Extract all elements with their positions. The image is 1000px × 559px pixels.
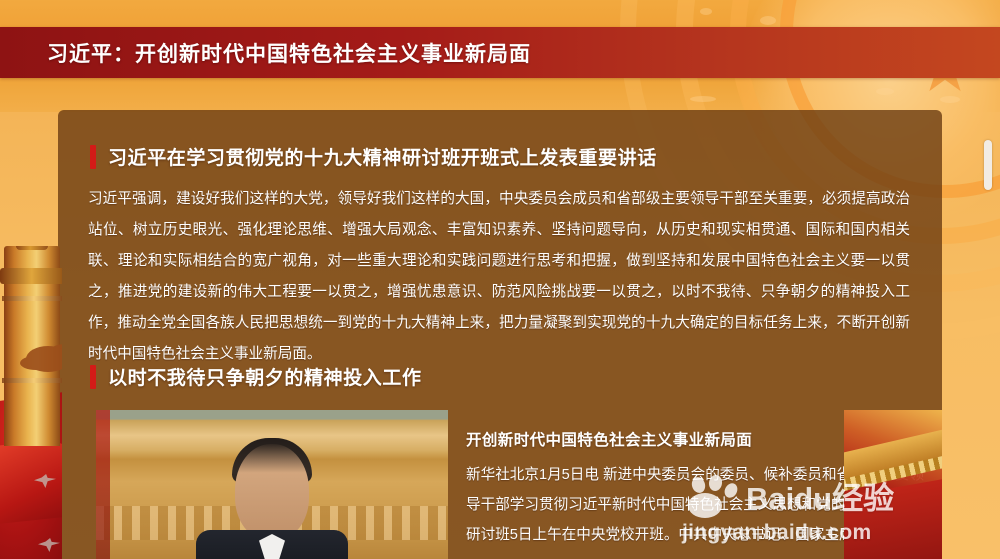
- decorative-blob: [940, 96, 960, 103]
- page-title: 习近平：开创新时代中国特色社会主义事业新局面: [47, 38, 531, 68]
- huabiao-plate: [0, 268, 62, 284]
- accent-bar-icon: [90, 145, 96, 169]
- photo-person-head: [235, 444, 309, 540]
- cloud-motif-icon: [26, 346, 62, 372]
- article-paragraph-1: 习近平强调，建设好我们这样的大党，领导好我们这样的大国，中央委员会成员和省部级主…: [88, 184, 910, 370]
- xi-jinping-speech-photo: [96, 410, 448, 559]
- article-content-panel: 习近平在学习贯彻党的十九大精神研讨班开班式上发表重要讲话 习近平强调，建设好我们…: [58, 110, 942, 559]
- tiananmen-photo-sliver: [844, 410, 942, 559]
- page-title-banner: 习近平：开创新时代中国特色社会主义事业新局面: [0, 27, 1000, 78]
- decorative-blob: [760, 16, 776, 25]
- photo-left-red-edge: [96, 410, 110, 559]
- vertical-scrollbar-track[interactable]: [982, 114, 994, 444]
- left-decoration-column: [0, 246, 62, 559]
- decorative-blob: [690, 96, 716, 102]
- article-heading-secondary-text: 以时不我待只争朝夕的精神投入工作: [108, 363, 422, 390]
- vertical-scrollbar-thumb[interactable]: [984, 140, 992, 190]
- accent-bar-icon: [90, 365, 96, 389]
- decorative-blob: [876, 88, 894, 95]
- article-heading-secondary: 以时不我待只争朝夕的精神投入工作: [90, 363, 422, 390]
- article-heading-primary-text: 习近平在学习贯彻党的十九大精神研讨班开班式上发表重要讲话: [108, 143, 657, 170]
- red-ribbon-fold: [0, 437, 62, 525]
- article-heading-primary: 习近平在学习贯彻党的十九大精神研讨班开班式上发表重要讲话: [90, 143, 657, 170]
- decorative-blob: [700, 8, 712, 15]
- huabiao-ring: [2, 296, 62, 301]
- huabiao-ring: [2, 378, 62, 383]
